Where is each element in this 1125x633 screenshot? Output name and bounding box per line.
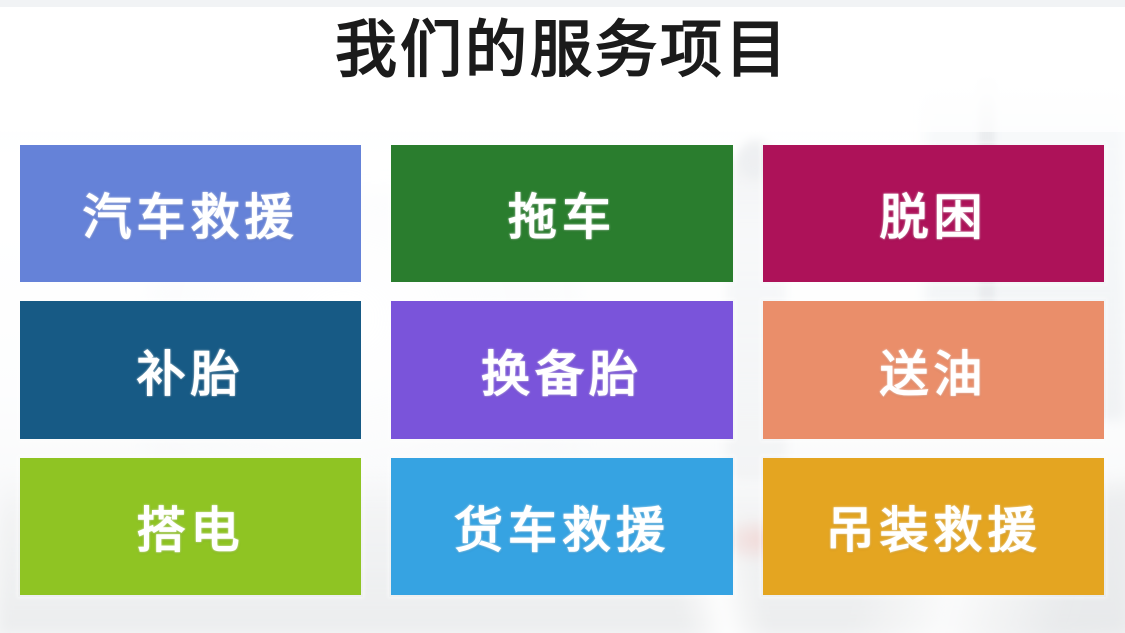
service-tile-tire-repair[interactable]: 补胎 <box>20 301 361 439</box>
service-tile-label: 补胎 <box>136 335 244 406</box>
service-tile-label: 吊装救援 <box>825 491 1041 562</box>
service-tile-label: 搭电 <box>136 491 244 562</box>
service-tile-label: 拖车 <box>508 178 616 249</box>
service-tile-truck-rescue[interactable]: 货车救援 <box>391 458 733 595</box>
service-tile-label: 送油 <box>879 335 987 406</box>
service-tile-label: 汽车救援 <box>82 178 298 249</box>
background-top-strip <box>0 0 1125 7</box>
service-poster: 我们的服务项目 汽车救援 拖车 脱困 补胎 换备胎 送油 搭电 货车救援 吊装救… <box>0 0 1125 633</box>
service-tile-jump-start[interactable]: 搭电 <box>20 458 361 595</box>
service-tile-label: 货车救援 <box>454 491 670 562</box>
service-tile-car-rescue[interactable]: 汽车救援 <box>20 145 361 282</box>
service-tile-spare-tire-change[interactable]: 换备胎 <box>391 301 733 439</box>
service-tile-label: 脱困 <box>879 178 987 249</box>
service-tile-towing[interactable]: 拖车 <box>391 145 733 282</box>
service-grid: 汽车救援 拖车 脱困 补胎 换备胎 送油 搭电 货车救援 吊装救援 <box>20 145 1104 595</box>
service-tile-fuel-delivery[interactable]: 送油 <box>763 301 1104 439</box>
service-tile-crane-rescue[interactable]: 吊装救援 <box>763 458 1104 595</box>
service-tile-extrication[interactable]: 脱困 <box>763 145 1104 282</box>
service-tile-label: 换备胎 <box>481 335 643 406</box>
page-title: 我们的服务项目 <box>0 17 1125 85</box>
